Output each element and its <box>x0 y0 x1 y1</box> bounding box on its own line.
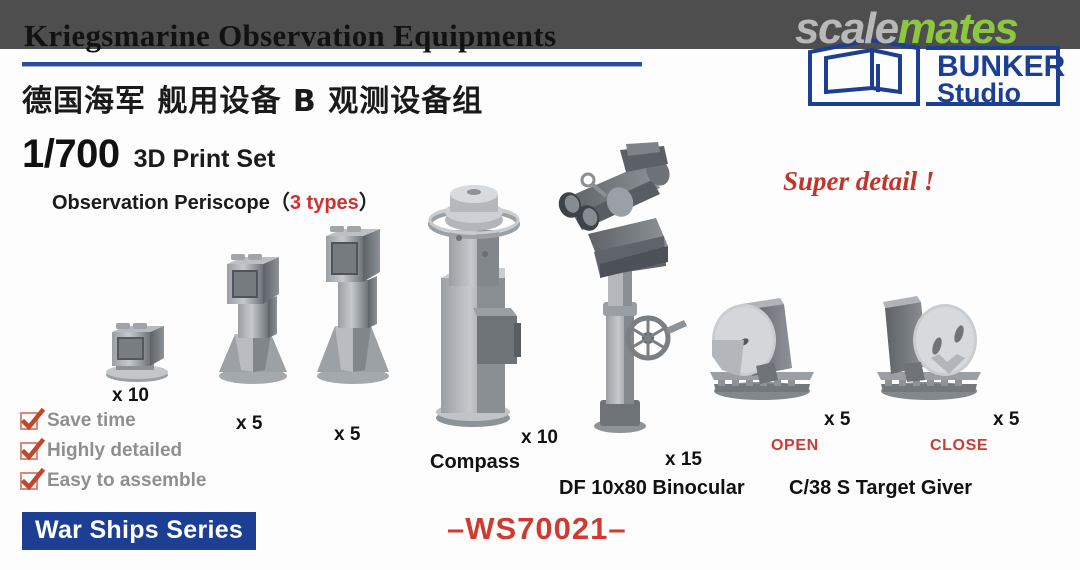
brand-name-line2: Studio <box>937 78 1021 108</box>
feature-label: Easy to assemble <box>47 470 206 492</box>
super-detail-tagline: Super detail ! <box>783 166 935 197</box>
subtitle: Observation Periscope（3 types） <box>52 186 379 215</box>
page-title: Kriegsmarine Observation Equipments <box>24 18 556 54</box>
feature-list: Save time Highly detailed Easy to assemb… <box>20 406 206 496</box>
part-qty-periscope-small: x 10 <box>112 385 149 407</box>
periscope-large-render <box>303 222 403 384</box>
part-qty-target-giver-open: x 5 <box>824 409 850 431</box>
subtitle-variants: 3 types <box>290 192 359 214</box>
scalemates-watermark: scalemates <box>795 4 1017 54</box>
feature-item: Save time <box>20 406 206 436</box>
subtitle-paren-open: （ <box>270 192 290 214</box>
binocular-render <box>548 142 700 434</box>
target-giver-open-render <box>700 296 824 400</box>
series-banner: War Ships Series <box>22 512 256 550</box>
compass-render <box>415 168 531 430</box>
part-qty-periscope-large: x 5 <box>334 424 360 446</box>
subtitle-paren-close: ） <box>359 192 379 214</box>
part-state-close: CLOSE <box>930 437 988 455</box>
scale-row: 1/700 3D Print Set <box>22 132 275 177</box>
feature-label: Save time <box>47 410 136 432</box>
part-qty-periscope-medium: x 5 <box>236 413 262 435</box>
part-name-binocular: DF 10x80 Binocular <box>559 477 745 500</box>
part-qty-target-giver-close: x 5 <box>993 409 1019 431</box>
part-qty-compass: x 10 <box>521 427 558 449</box>
watermark-part2: mates <box>898 4 1018 53</box>
periscope-medium-render <box>205 248 301 384</box>
part-name-target-giver: C/38 S Target Giver <box>789 477 972 500</box>
part-state-open: OPEN <box>771 437 819 455</box>
checkmark-icon <box>20 442 38 460</box>
feature-item: Easy to assemble <box>20 466 206 496</box>
part-qty-binocular: x 15 <box>665 449 702 471</box>
page-title-chinese: 德国海军 舰用设备 B 观测设备组 <box>22 76 483 120</box>
target-giver-close-render <box>867 296 991 400</box>
title-divider <box>22 62 642 67</box>
kit-type-label: 3D Print Set <box>134 145 276 174</box>
scale-value: 1/700 <box>22 132 120 177</box>
series-label: War Ships Series <box>35 516 243 544</box>
feature-item: Highly detailed <box>20 436 206 466</box>
checkmark-icon <box>20 472 38 490</box>
kit-number: –WS70021– <box>447 511 627 547</box>
product-box-art: Kriegsmarine Observation Equipments 德国海军… <box>0 0 1080 570</box>
watermark-part1: scale <box>795 4 898 53</box>
feature-label: Highly detailed <box>47 440 182 462</box>
part-name-compass: Compass <box>430 451 520 474</box>
periscope-small-render <box>92 312 178 384</box>
subtitle-main: Observation Periscope <box>52 192 270 214</box>
checkmark-icon <box>20 412 38 430</box>
